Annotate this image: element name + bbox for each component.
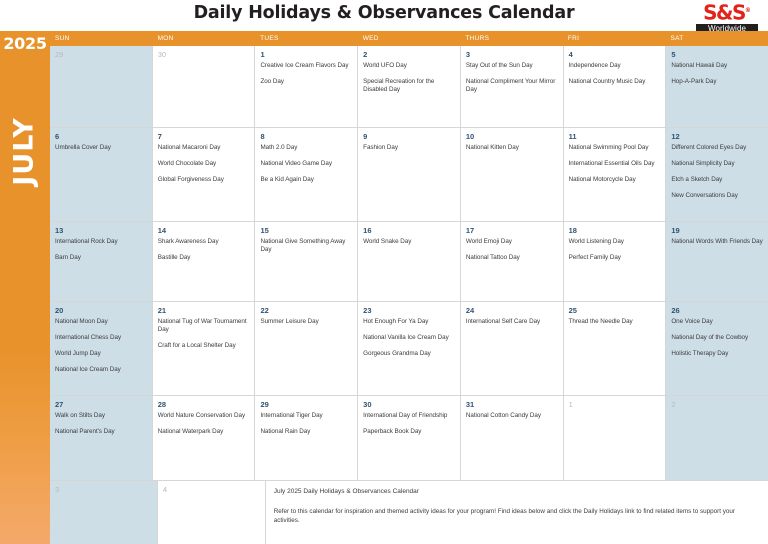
day-number: 12 <box>671 132 763 142</box>
ss-worldwide-logo: S&S® Worldwide <box>696 1 758 31</box>
holiday-event[interactable]: International Day of Friendship <box>363 412 455 420</box>
day-number: 21 <box>158 306 250 316</box>
holiday-event[interactable]: World Snake Day <box>363 238 455 246</box>
holiday-event[interactable]: Thread the Needle Day <box>569 318 661 326</box>
day-number: 20 <box>55 306 147 316</box>
day-cell-30[interactable]: 30 <box>153 46 256 127</box>
day-cell-25[interactable]: 25Thread the Needle Day <box>564 302 667 395</box>
holiday-event[interactable]: World Nature Conservation Day <box>158 412 250 420</box>
month-label: JULY <box>9 82 40 222</box>
holiday-event[interactable]: National Hawaii Day <box>671 62 763 70</box>
day-cell-10[interactable]: 10National Kitten Day <box>461 128 564 221</box>
day-number: 18 <box>569 226 661 236</box>
day-cell-11[interactable]: 11National Swimming Pool DayInternationa… <box>564 128 667 221</box>
day-number: 5 <box>671 50 763 60</box>
holiday-event[interactable]: National Simplicity Day <box>671 160 763 168</box>
day-number: 28 <box>158 400 250 410</box>
week-row: 29301Creative Ice Cream Flavors DayZoo D… <box>50 46 768 128</box>
day-number: 23 <box>363 306 455 316</box>
day-cell-22[interactable]: 22Summer Leisure Day <box>255 302 358 395</box>
day-cell-23[interactable]: 23Hot Enough For Ya DayNational Vanilla … <box>358 302 461 395</box>
day-number: 3 <box>466 50 558 60</box>
holiday-event[interactable]: Holistic Therapy Day <box>671 350 763 358</box>
week-row-footer: 3 4 July 2025 Daily Holidays & Observanc… <box>50 481 768 544</box>
dow-fri: FRI <box>563 31 666 46</box>
holiday-event[interactable]: Math 2.0 Day <box>260 144 352 152</box>
day-number: 14 <box>158 226 250 236</box>
day-cell-4[interactable]: 4Independence DayNational Country Music … <box>564 46 667 127</box>
day-cell-6[interactable]: 6Umbrella Cover Day <box>50 128 153 221</box>
day-cell-footer-sun[interactable]: 3 <box>50 481 158 544</box>
holiday-event[interactable]: Hot Enough For Ya Day <box>363 318 455 326</box>
calendar-grid: SUN MON TUES WED THURS FRI SAT 29301Crea… <box>50 31 768 544</box>
calendar-page: Daily Holidays & Observances Calendar S&… <box>0 0 768 544</box>
day-cell-5[interactable]: 5National Hawaii DayHop-A-Park Day <box>666 46 768 127</box>
holiday-event[interactable]: World Listening Day <box>569 238 661 246</box>
holiday-event[interactable]: National Tattoo Day <box>466 254 558 262</box>
day-cell-28[interactable]: 28World Nature Conservation DayNational … <box>153 396 256 480</box>
holiday-event[interactable]: Special Recreation for the Disabled Day <box>363 78 455 94</box>
day-cell-21[interactable]: 21National Tug of War Tournament DayCraf… <box>153 302 256 395</box>
holiday-event[interactable]: World UFO Day <box>363 62 455 70</box>
day-number: 29 <box>55 50 147 60</box>
holiday-event[interactable]: International Tiger Day <box>260 412 352 420</box>
logo-mark-text: S&S <box>703 1 745 25</box>
calendar-note: July 2025 Daily Holidays & Observances C… <box>266 481 768 544</box>
day-cell-27[interactable]: 27Walk on Stilts DayNational Parent's Da… <box>50 396 153 480</box>
day-cell-13[interactable]: 13International Rock DayBarn Day <box>50 222 153 301</box>
holiday-event[interactable]: National Compliment Your Mirror Day <box>466 78 558 94</box>
logo-wordmark: S&S® <box>696 1 758 23</box>
note-title: July 2025 Daily Holidays & Observances C… <box>274 487 758 496</box>
day-cell-2[interactable]: 2 <box>666 396 768 480</box>
day-number: 19 <box>671 226 763 236</box>
holiday-event[interactable]: National Day of the Cowboy <box>671 334 763 342</box>
holiday-event[interactable]: World Jump Day <box>55 350 147 358</box>
day-number: 17 <box>466 226 558 236</box>
day-number: 15 <box>260 226 352 236</box>
holiday-event[interactable]: Walk on Stilts Day <box>55 412 147 420</box>
day-number: 24 <box>466 306 558 316</box>
dow-sat: SAT <box>665 31 768 46</box>
day-cell-7[interactable]: 7National Macaroni DayWorld Chocolate Da… <box>153 128 256 221</box>
holiday-event[interactable]: Creative Ice Cream Flavors Day <box>260 62 352 70</box>
day-cell-31[interactable]: 31National Cotton Candy Day <box>461 396 564 480</box>
day-number: 10 <box>466 132 558 142</box>
holiday-event[interactable]: World Chocolate Day <box>158 160 250 168</box>
holiday-event[interactable]: Etch a Sketch Day <box>671 176 763 184</box>
day-number: 16 <box>363 226 455 236</box>
day-number: 22 <box>260 306 352 316</box>
holiday-event[interactable]: Umbrella Cover Day <box>55 144 147 152</box>
holiday-event[interactable]: National Video Game Day <box>260 160 352 168</box>
holiday-event[interactable]: International Chess Day <box>55 334 147 342</box>
week-row: 6Umbrella Cover Day7National Macaroni Da… <box>50 128 768 222</box>
day-cell-1[interactable]: 1Creative Ice Cream Flavors DayZoo Day <box>255 46 358 127</box>
day-number: 4 <box>569 50 661 60</box>
day-of-week-header: SUN MON TUES WED THURS FRI SAT <box>50 31 768 46</box>
day-cell-29[interactable]: 29International Tiger DayNational Rain D… <box>255 396 358 480</box>
day-number: 1 <box>260 50 352 60</box>
day-cell-19[interactable]: 19National Words With Friends Day <box>666 222 768 301</box>
year-label: 2025 <box>0 34 50 53</box>
day-cell-16[interactable]: 16World Snake Day <box>358 222 461 301</box>
day-cell-14[interactable]: 14Shark Awareness DayBastille Day <box>153 222 256 301</box>
holiday-event[interactable]: Barn Day <box>55 254 147 262</box>
day-cell-15[interactable]: 15National Give Something Away Day <box>255 222 358 301</box>
day-cell-30[interactable]: 30International Day of FriendshipPaperba… <box>358 396 461 480</box>
holiday-event[interactable]: International Essential Oils Day <box>569 160 661 168</box>
day-cell-footer-mon[interactable]: 4 <box>158 481 266 544</box>
holiday-event[interactable]: National Macaroni Day <box>158 144 250 152</box>
note-body: Refer to this calendar for inspiration a… <box>274 507 758 525</box>
page-title: Daily Holidays & Observances Calendar <box>0 3 768 23</box>
day-cell-1[interactable]: 1 <box>564 396 667 480</box>
logo-trademark-icon: ® <box>745 7 751 14</box>
holiday-event[interactable]: Shark Awareness Day <box>158 238 250 246</box>
holiday-event[interactable]: National Waterpark Day <box>158 428 250 436</box>
holiday-event[interactable]: National Rain Day <box>260 428 352 436</box>
holiday-event[interactable]: National Kitten Day <box>466 144 558 152</box>
holiday-event[interactable]: National Cotton Candy Day <box>466 412 558 420</box>
holiday-event[interactable]: National Ice Cream Day <box>55 366 147 374</box>
holiday-event[interactable]: Zoo Day <box>260 78 352 86</box>
holiday-event[interactable]: World Emoji Day <box>466 238 558 246</box>
holiday-event[interactable]: National Vanilla Ice Cream Day <box>363 334 455 342</box>
holiday-event[interactable]: Gorgeous Grandma Day <box>363 350 455 358</box>
month-rail: 2025 JULY <box>0 31 50 544</box>
holiday-event[interactable]: Independence Day <box>569 62 661 70</box>
day-cell-8[interactable]: 8Math 2.0 DayNational Video Game DayBe a… <box>255 128 358 221</box>
holiday-event[interactable]: Hop-A-Park Day <box>671 78 763 86</box>
day-number: 4 <box>163 485 260 495</box>
day-number: 27 <box>55 400 147 410</box>
holiday-event[interactable]: Craft for a Local Shelter Day <box>158 342 250 350</box>
day-number: 26 <box>671 306 763 316</box>
day-cell-17[interactable]: 17World Emoji DayNational Tattoo Day <box>461 222 564 301</box>
day-number: 9 <box>363 132 455 142</box>
day-number: 30 <box>363 400 455 410</box>
day-number: 1 <box>569 400 661 410</box>
day-number: 7 <box>158 132 250 142</box>
day-number: 13 <box>55 226 147 236</box>
holiday-event[interactable]: National Words With Friends Day <box>671 238 763 246</box>
day-number: 29 <box>260 400 352 410</box>
holiday-event[interactable]: Bastille Day <box>158 254 250 262</box>
day-cell-18[interactable]: 18World Listening DayPerfect Family Day <box>564 222 667 301</box>
holiday-event[interactable]: New Conversations Day <box>671 192 763 200</box>
holiday-event[interactable]: National Swimming Pool Day <box>569 144 661 152</box>
day-number: 31 <box>466 400 558 410</box>
day-cell-9[interactable]: 9Fashion Day <box>358 128 461 221</box>
week-row: 27Walk on Stilts DayNational Parent's Da… <box>50 396 768 481</box>
holiday-event[interactable]: Stay Out of the Sun Day <box>466 62 558 70</box>
holiday-event[interactable]: National Moon Day <box>55 318 147 326</box>
holiday-event[interactable]: National Country Music Day <box>569 78 661 86</box>
day-cell-20[interactable]: 20National Moon DayInternational Chess D… <box>50 302 153 395</box>
day-cell-29[interactable]: 29 <box>50 46 153 127</box>
day-number: 3 <box>55 485 152 495</box>
dow-mon: MON <box>153 31 256 46</box>
holiday-event[interactable]: Fashion Day <box>363 144 455 152</box>
holiday-event[interactable]: National Parent's Day <box>55 428 147 436</box>
dow-tues: TUES <box>255 31 358 46</box>
holiday-event[interactable]: Perfect Family Day <box>569 254 661 262</box>
dow-sun: SUN <box>50 31 153 46</box>
day-cell-26[interactable]: 26One Voice DayNational Day of the Cowbo… <box>666 302 768 395</box>
holiday-event[interactable]: Global Forgiveness Day <box>158 176 250 184</box>
week-rows-host: 29301Creative Ice Cream Flavors DayZoo D… <box>50 46 768 481</box>
day-number: 8 <box>260 132 352 142</box>
day-cell-12[interactable]: 12Different Colored Eyes DayNational Sim… <box>666 128 768 221</box>
holiday-event[interactable]: National Tug of War Tournament Day <box>158 318 250 334</box>
holiday-event[interactable]: Summer Leisure Day <box>260 318 352 326</box>
week-row: 20National Moon DayInternational Chess D… <box>50 302 768 396</box>
holiday-event[interactable]: Paperback Book Day <box>363 428 455 436</box>
day-number: 25 <box>569 306 661 316</box>
holiday-event[interactable]: Be a Kid Again Day <box>260 176 352 184</box>
holiday-event[interactable]: National Give Something Away Day <box>260 238 352 254</box>
week-row: 13International Rock DayBarn Day14Shark … <box>50 222 768 302</box>
day-number: 30 <box>158 50 250 60</box>
day-number: 11 <box>569 132 661 142</box>
dow-wed: WED <box>358 31 461 46</box>
day-cell-3[interactable]: 3Stay Out of the Sun DayNational Complim… <box>461 46 564 127</box>
holiday-event[interactable]: International Rock Day <box>55 238 147 246</box>
holiday-event[interactable]: One Voice Day <box>671 318 763 326</box>
day-cell-2[interactable]: 2World UFO DaySpecial Recreation for the… <box>358 46 461 127</box>
day-number: 6 <box>55 132 147 142</box>
holiday-event[interactable]: International Self Care Day <box>466 318 558 326</box>
day-number: 2 <box>363 50 455 60</box>
dow-thurs: THURS <box>460 31 563 46</box>
title-bar: Daily Holidays & Observances Calendar S&… <box>0 0 768 31</box>
day-number: 2 <box>671 400 763 410</box>
holiday-event[interactable]: National Motorcycle Day <box>569 176 661 184</box>
holiday-event[interactable]: Different Colored Eyes Day <box>671 144 763 152</box>
day-cell-24[interactable]: 24International Self Care Day <box>461 302 564 395</box>
